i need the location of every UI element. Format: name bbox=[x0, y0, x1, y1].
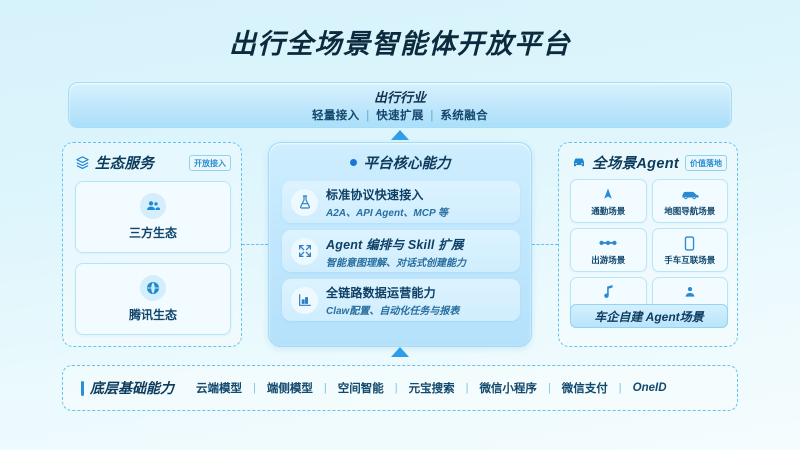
scenario-label: 通勤场景 bbox=[591, 205, 625, 217]
capability-subtitle: 智能意图理解、对话式创建能力 bbox=[326, 254, 466, 269]
capability-card-protocol[interactable]: 标准协议快速接入 A2A、API Agent、MCP 等 bbox=[282, 181, 520, 223]
arrow-up-to-banner-icon bbox=[391, 130, 409, 140]
item-separator: | bbox=[548, 382, 551, 394]
industry-banner-title: 出行行业 bbox=[374, 87, 426, 106]
people-icon bbox=[140, 193, 166, 219]
item-separator: | bbox=[466, 382, 469, 394]
ecosystem-panel-header: 生态服务 开放接入 bbox=[75, 152, 231, 173]
banner-part-2: 系统融合 bbox=[440, 110, 488, 122]
car-front-icon bbox=[571, 155, 587, 170]
scenario-card-travel[interactable]: 出游场景 bbox=[570, 228, 647, 272]
capability-title: 标准协议快速接入 bbox=[326, 186, 448, 203]
scenario-card-phone-car[interactable]: 手车互联场景 bbox=[652, 228, 729, 272]
ecosystem-panel: 生态服务 开放接入 三方生态 腾讯生态 bbox=[62, 142, 242, 347]
ecosystem-badge: 开放接入 bbox=[189, 155, 231, 171]
capability-text: 全链路数据运营能力 Claw配置、自动化任务与报表 bbox=[326, 284, 459, 317]
capability-card-data-operations[interactable]: 全链路数据运营能力 Claw配置、自动化任务与报表 bbox=[282, 279, 520, 321]
foundation-capability-bar: 底层基础能力 云端模型 | 端侧模型 | 空间智能 | 元宝搜索 | 微信小程序… bbox=[62, 365, 738, 411]
page-title: 出行全场景智能体开放平台 bbox=[0, 22, 800, 61]
route-icon bbox=[598, 234, 618, 252]
dot-marker-icon bbox=[350, 159, 357, 166]
eco-card-tencent[interactable]: 腾讯生态 bbox=[75, 263, 231, 335]
item-separator: | bbox=[324, 382, 327, 394]
flask-icon bbox=[291, 189, 318, 216]
expand-arrows-icon bbox=[291, 238, 318, 265]
connector-left bbox=[242, 244, 268, 245]
scenario-panel-header: 全场景Agent 价值落地 bbox=[571, 152, 727, 173]
globe-icon bbox=[140, 275, 166, 301]
core-capability-title: 平台核心能力 bbox=[364, 152, 451, 173]
capability-title: 全链路数据运营能力 bbox=[326, 284, 459, 301]
scenario-label: 手车互联场景 bbox=[664, 254, 715, 266]
foundation-item-wechat-pay[interactable]: 微信支付 bbox=[562, 380, 608, 396]
foundation-items: 云端模型 | 端侧模型 | 空间智能 | 元宝搜索 | 微信小程序 | 微信支付… bbox=[196, 380, 667, 396]
eco-card-third-party[interactable]: 三方生态 bbox=[75, 181, 231, 253]
connector-right bbox=[532, 244, 558, 245]
item-separator: | bbox=[619, 382, 622, 394]
foundation-item-yuanbao-search[interactable]: 元宝搜索 bbox=[409, 380, 455, 396]
person-icon bbox=[683, 283, 697, 301]
item-separator: | bbox=[253, 382, 256, 394]
banner-part-1: 快速扩展 bbox=[376, 110, 424, 122]
foundation-title-group: 底层基础能力 bbox=[81, 378, 174, 398]
layers-icon bbox=[75, 155, 90, 170]
ecosystem-panel-title: 生态服务 bbox=[95, 152, 154, 173]
industry-banner-subtitle: 轻量接入 | 快速扩展 | 系统融合 bbox=[312, 107, 488, 123]
eco-card-label: 腾讯生态 bbox=[129, 306, 177, 323]
capability-card-agent-orchestration[interactable]: Agent 编排与 Skill 扩展 智能意图理解、对话式创建能力 bbox=[282, 230, 520, 272]
core-capability-header: 平台核心能力 bbox=[269, 147, 531, 177]
phone-icon bbox=[684, 234, 695, 252]
industry-banner: 出行行业 轻量接入 | 快速扩展 | 系统融合 bbox=[68, 82, 732, 128]
scenario-panel-title: 全场景Agent bbox=[592, 152, 679, 173]
arrow-up-to-center-icon bbox=[391, 347, 409, 357]
foundation-item-edge-model[interactable]: 端侧模型 bbox=[267, 380, 313, 396]
capability-title: Agent 编排与 Skill 扩展 bbox=[326, 234, 466, 253]
scenario-grid: 通勤场景 地图导航场景 bbox=[570, 179, 728, 321]
banner-separator: | bbox=[366, 110, 369, 122]
core-capability-panel: 平台核心能力 标准协议快速接入 A2A、API Agent、MCP 等 bbox=[268, 142, 532, 347]
title-accent-bar bbox=[81, 381, 84, 396]
foundation-item-cloud-model[interactable]: 云端模型 bbox=[196, 380, 242, 396]
foundation-item-oneid[interactable]: OneID bbox=[633, 382, 667, 394]
foundation-item-spatial-intelligence[interactable]: 空间智能 bbox=[338, 380, 384, 396]
car-icon bbox=[681, 185, 699, 203]
item-separator: | bbox=[395, 382, 398, 394]
foundation-title: 底层基础能力 bbox=[90, 378, 174, 398]
scenario-label: 地图导航场景 bbox=[664, 205, 715, 217]
eco-card-label: 三方生态 bbox=[129, 224, 177, 241]
capability-subtitle: A2A、API Agent、MCP 等 bbox=[326, 204, 448, 219]
scenario-badge: 价值落地 bbox=[685, 155, 727, 171]
music-note-icon bbox=[602, 283, 615, 301]
scenario-label: 出游场景 bbox=[591, 254, 625, 266]
banner-part-0: 轻量接入 bbox=[312, 110, 360, 122]
scenario-card-map-navigation[interactable]: 地图导航场景 bbox=[652, 179, 729, 223]
scenario-agent-panel: 全场景Agent 价值落地 通勤场景 地图导航场景 bbox=[558, 142, 738, 347]
capability-text: Agent 编排与 Skill 扩展 智能意图理解、对话式创建能力 bbox=[326, 234, 466, 269]
bar-chart-icon bbox=[291, 287, 318, 314]
capability-subtitle: Claw配置、自动化任务与报表 bbox=[326, 302, 459, 317]
oem-self-built-agent-bar[interactable]: 车企自建 Agent场景 bbox=[570, 304, 728, 328]
infographic-canvas: 出行全场景智能体开放平台 出行行业 轻量接入 | 快速扩展 | 系统融合 生态服… bbox=[0, 0, 800, 450]
foundation-item-wechat-miniprogram[interactable]: 微信小程序 bbox=[479, 380, 537, 396]
navigation-arrow-icon bbox=[601, 185, 615, 203]
capability-text: 标准协议快速接入 A2A、API Agent、MCP 等 bbox=[326, 186, 448, 219]
banner-separator: | bbox=[430, 110, 433, 122]
scenario-card-commute[interactable]: 通勤场景 bbox=[570, 179, 647, 223]
